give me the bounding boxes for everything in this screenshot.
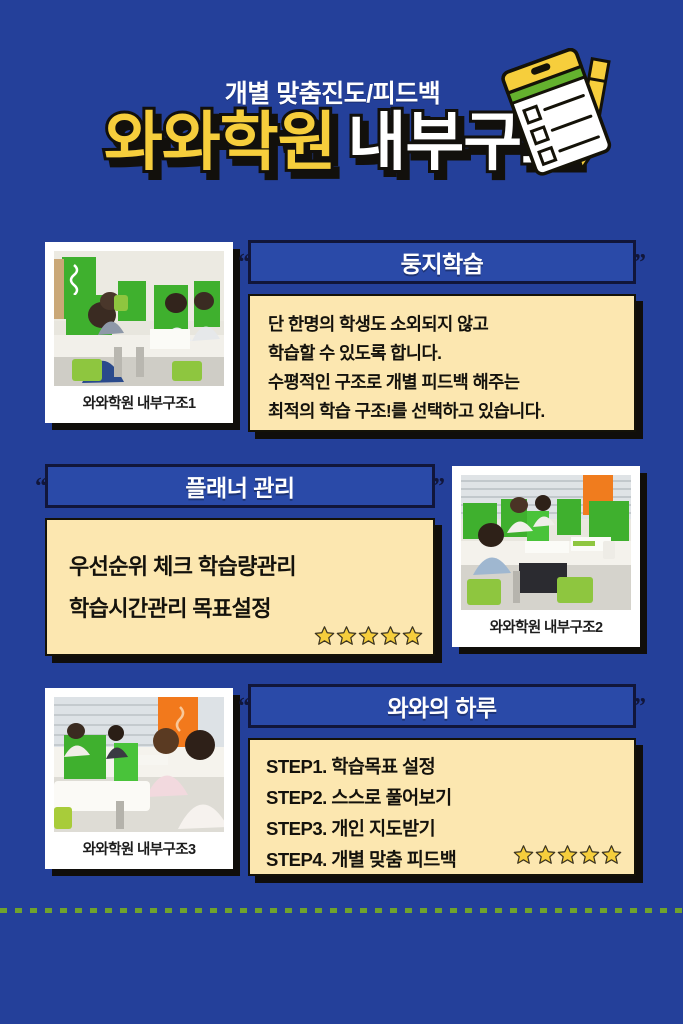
step-line-2: STEP2. 스스로 풀어보기 xyxy=(266,782,634,813)
quote-open-icon-2: “ xyxy=(35,475,47,499)
quote-open-icon-1: “ xyxy=(238,251,250,275)
star-icon xyxy=(380,625,401,646)
photo-caption-2: 와와학원 내부구조2 xyxy=(461,610,631,647)
star-rating-2 xyxy=(314,625,423,646)
panel-line-2-2: 학습시간관리 목표설정 xyxy=(69,588,433,630)
panel-line-1-2: 학습할 수 있도록 합니다. xyxy=(268,339,634,368)
photo-classroom-1 xyxy=(54,251,224,386)
star-rating-3 xyxy=(513,844,622,865)
section-title-bar-3: “ 와와의 하루 ” xyxy=(248,684,636,728)
quote-close-icon-1: ” xyxy=(634,251,646,275)
photo-card-1: 와와학원 내부구조1 xyxy=(45,242,233,423)
panel-line-2-1: 우선순위 체크 학습량관리 xyxy=(69,546,433,588)
star-icon xyxy=(579,844,600,865)
star-icon xyxy=(336,625,357,646)
clipboard-checklist-icon xyxy=(494,48,626,176)
section-title-1: 둥지학습 xyxy=(251,243,633,281)
star-icon xyxy=(601,844,622,865)
title-academy-name: 와와학원 xyxy=(104,110,336,174)
section-planner-management: 와와학원 내부구조2 “ 플래너 관리 ” 우선순위 체크 학습량관리 학습시간… xyxy=(0,458,683,670)
poster-header: 개별 맞춤진도/피드백 와와학원내부구조 xyxy=(0,0,683,215)
photo-caption-1: 와와학원 내부구조1 xyxy=(54,386,224,423)
section-nest-learning: 와와학원 내부구조1 “ 둥지학습 ” 단 한명의 학생도 소외되지 않고 학습… xyxy=(0,232,683,444)
photo-classroom-2 xyxy=(461,475,631,610)
photo-card-2: 와와학원 내부구조2 xyxy=(452,466,640,647)
step-line-3: STEP3. 개인 지도받기 xyxy=(266,813,634,844)
panel-line-1-4: 최적의 학습 구조!를 선택하고 있습니다. xyxy=(268,397,634,426)
star-icon xyxy=(535,844,556,865)
star-icon xyxy=(358,625,379,646)
panel-line-1-3: 수평적인 구조로 개별 피드백 해주는 xyxy=(268,368,634,397)
step-line-1: STEP1. 학습목표 설정 xyxy=(266,751,634,782)
quote-close-icon-2: ” xyxy=(433,475,445,499)
photo-caption-3: 와와학원 내부구조3 xyxy=(54,832,224,869)
panel-line-1-1: 단 한명의 학생도 소외되지 않고 xyxy=(268,310,634,339)
section-title-3: 와와의 하루 xyxy=(251,687,633,725)
star-icon xyxy=(314,625,335,646)
section-wawa-day: 와와학원 내부구조3 “ 와와의 하루 ” STEP1. 학습목표 설정 STE… xyxy=(0,678,683,882)
quote-close-icon-3: ” xyxy=(634,695,646,719)
section-title-bar-2: “ 플래너 관리 ” xyxy=(45,464,435,508)
star-icon xyxy=(557,844,578,865)
poster-root: 개별 맞춤진도/피드백 와와학원내부구조 xyxy=(0,0,683,1024)
photo-classroom-3 xyxy=(54,697,224,832)
section-panel-1: 단 한명의 학생도 소외되지 않고 학습할 수 있도록 합니다. 수평적인 구조… xyxy=(248,294,636,432)
section-panel-2: 우선순위 체크 학습량관리 학습시간관리 목표설정 xyxy=(45,518,435,656)
section-title-2: 플래너 관리 xyxy=(48,467,432,505)
dashed-divider xyxy=(0,908,683,913)
section-panel-3: STEP1. 학습목표 설정 STEP2. 스스로 풀어보기 STEP3. 개인… xyxy=(248,738,636,876)
quote-open-icon-3: “ xyxy=(238,695,250,719)
photo-card-3: 와와학원 내부구조3 xyxy=(45,688,233,869)
star-icon xyxy=(513,844,534,865)
star-icon xyxy=(402,625,423,646)
section-title-bar-1: “ 둥지학습 ” xyxy=(248,240,636,284)
